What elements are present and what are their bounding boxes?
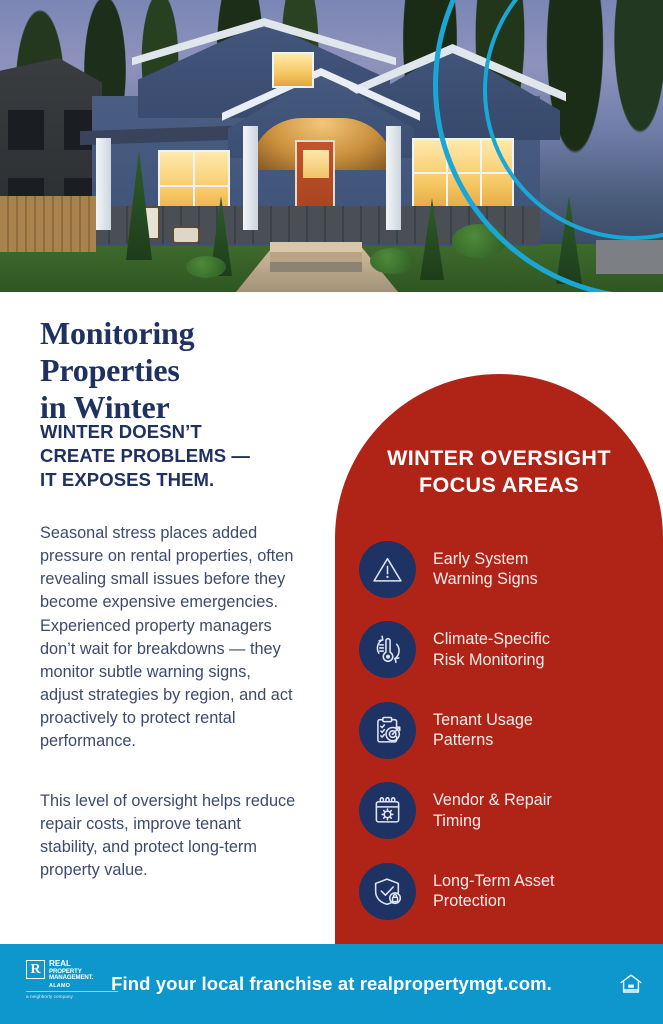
logo-divider — [26, 991, 118, 992]
body-paragraph-1: Seasonal stress places added pressure on… — [40, 522, 296, 753]
porch-ottoman — [172, 226, 200, 244]
porch-column — [386, 126, 401, 230]
window-mullion — [158, 185, 230, 187]
list-item-label: Long-Term AssetProtection — [433, 871, 554, 912]
subhead-line-3: IT EXPOSES THEM. — [40, 469, 214, 490]
logo-wordmark: REAL PROPERTY MANAGEMENT. — [49, 960, 93, 982]
list-item-label: Climate-SpecificRisk Monitoring — [433, 629, 550, 670]
content-area: Monitoring Propertiesin Winter WINTER DO… — [0, 292, 663, 944]
logo-word-3: MANAGEMENT. — [49, 975, 93, 981]
logo-tagline: a neighborly company — [26, 994, 73, 999]
panel-title-line-2: FOCUS AREAS — [419, 473, 579, 497]
label-line-1: Tenant Usage — [433, 711, 533, 729]
shield-lock-icon — [359, 863, 416, 920]
garden-bush — [186, 256, 226, 278]
upper-window — [272, 52, 314, 88]
list-item[interactable]: Early SystemWarning Signs — [359, 529, 663, 610]
thermometer-cycle-icon — [359, 621, 416, 678]
list-item-label: Tenant UsagePatterns — [433, 710, 533, 751]
list-item[interactable]: Long-Term AssetProtection — [359, 851, 663, 932]
list-item[interactable]: Tenant UsagePatterns — [359, 690, 663, 771]
body-paragraph-2: This level of oversight helps reduce rep… — [40, 790, 296, 883]
hero-house-photo — [0, 0, 663, 292]
clipboard-target-icon — [359, 702, 416, 759]
subhead-line-1: WINTER DOESN’T — [40, 421, 202, 442]
subheadline: WINTER DOESN’TCREATE PROBLEMS —IT EXPOSE… — [40, 420, 310, 492]
list-item-label: Vendor & RepairTiming — [433, 790, 552, 831]
garden-bush — [370, 248, 414, 274]
warning-triangle-icon — [359, 541, 416, 598]
wood-fence — [0, 196, 96, 252]
list-item[interactable]: Vendor & RepairTiming — [359, 771, 663, 852]
focus-areas-list: Early SystemWarning Signs — [359, 529, 663, 932]
panel-title: WINTER OVERSIGHTFOCUS AREAS — [335, 445, 663, 498]
infographic-page: Monitoring Propertiesin Winter WINTER DO… — [0, 0, 663, 1024]
label-line-1: Climate-Specific — [433, 630, 550, 648]
label-line-2: Timing — [433, 812, 481, 830]
label-line-2: Warning Signs — [433, 570, 538, 588]
calendar-gear-icon — [359, 782, 416, 839]
brand-logo[interactable]: R REAL PROPERTY MANAGEMENT. ALAMO a neig… — [26, 960, 118, 1008]
focus-areas-panel: WINTER OVERSIGHTFOCUS AREAS Early System… — [335, 374, 663, 944]
label-line-2: Patterns — [433, 731, 493, 749]
label-line-2: Protection — [433, 892, 506, 910]
title-line-1: Monitoring Properties — [40, 315, 194, 388]
logo-location: ALAMO — [49, 983, 70, 989]
page-title: Monitoring Propertiesin Winter — [40, 315, 340, 426]
footer-bar: Find your local franchise at realpropert… — [0, 944, 663, 1024]
list-item[interactable]: Climate-SpecificRisk Monitoring — [359, 610, 663, 691]
logo-row: R REAL PROPERTY MANAGEMENT. — [26, 960, 93, 982]
equal-housing-opportunity-icon — [617, 970, 645, 998]
label-line-1: Vendor & Repair — [433, 791, 552, 809]
label-line-1: Early System — [433, 550, 528, 568]
list-item-label: Early SystemWarning Signs — [433, 549, 538, 590]
logo-r-mark-icon: R — [26, 960, 45, 979]
label-line-1: Long-Term Asset — [433, 872, 554, 890]
porch-column — [96, 138, 111, 230]
panel-title-line-1: WINTER OVERSIGHT — [387, 446, 611, 470]
subhead-line-2: CREATE PROBLEMS — — [40, 445, 250, 466]
label-line-2: Risk Monitoring — [433, 651, 545, 669]
entry-steps — [270, 242, 362, 272]
porch-column — [243, 126, 258, 230]
